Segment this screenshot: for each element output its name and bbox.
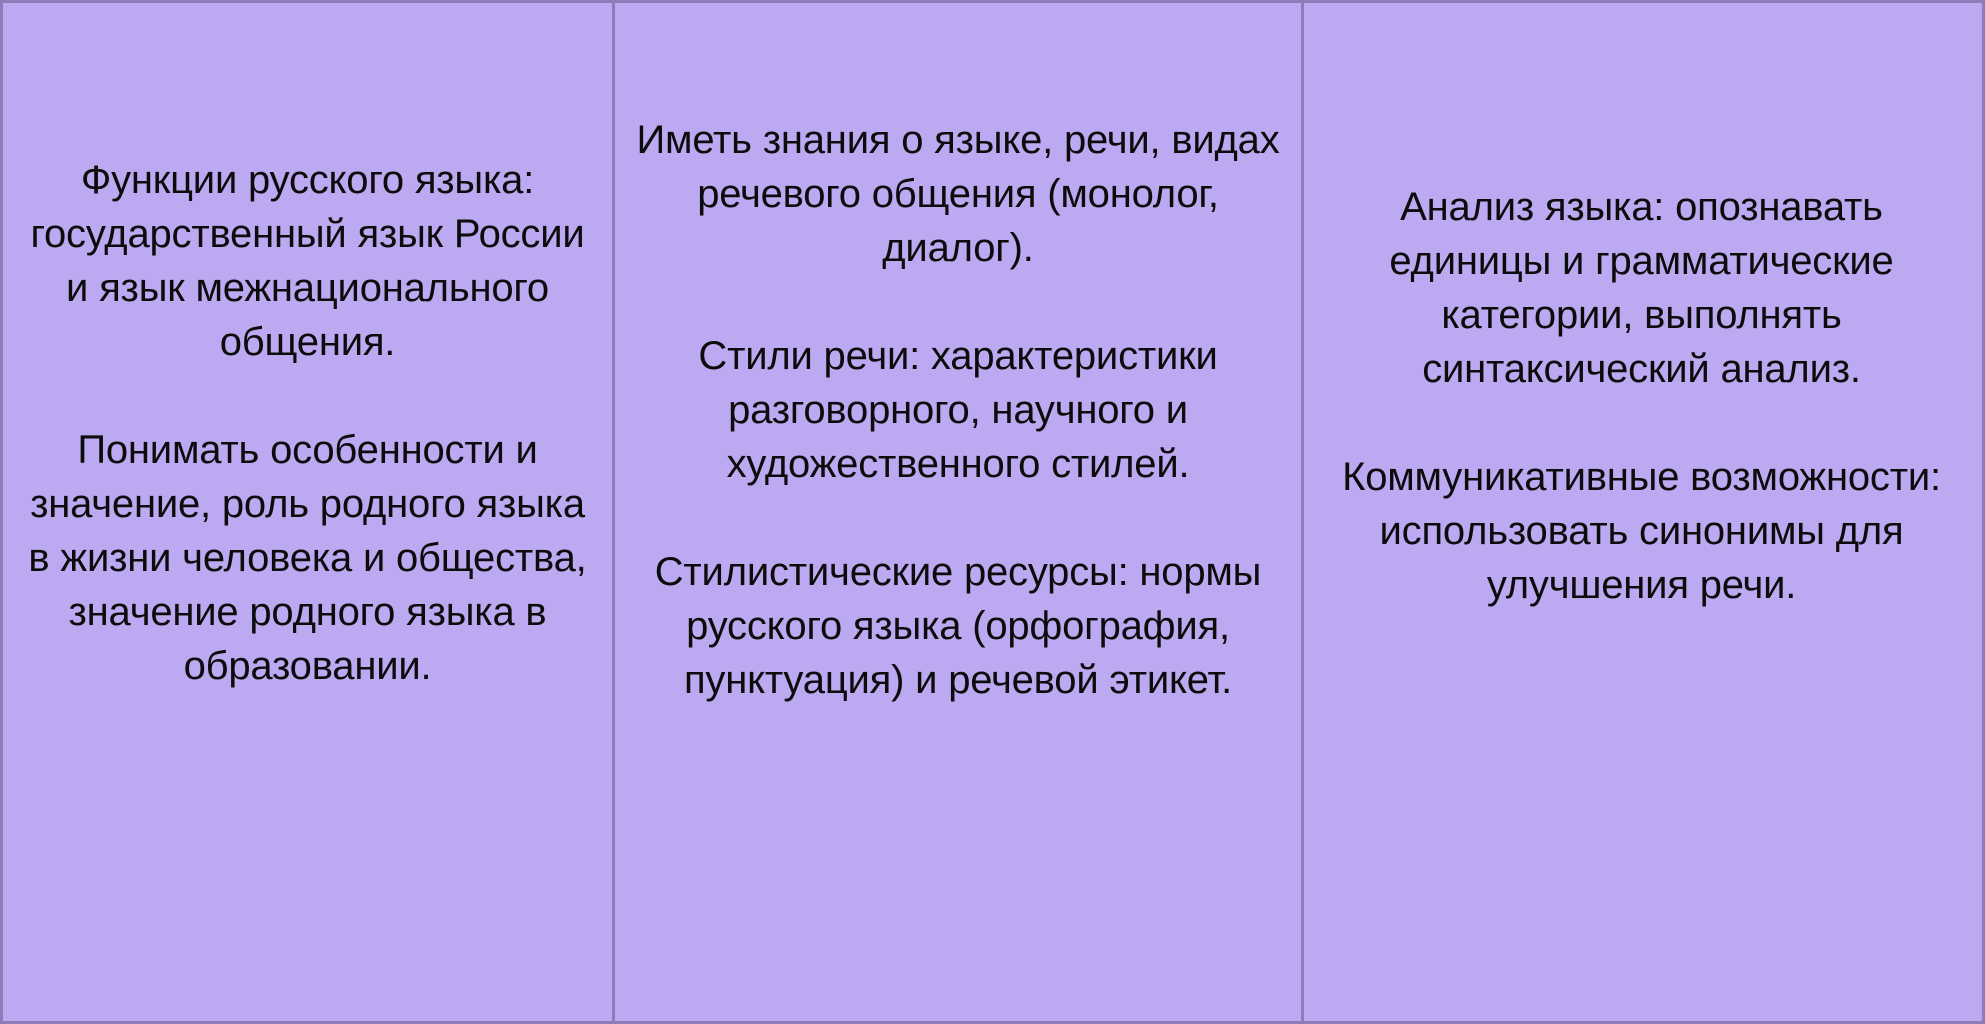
column-1-paragraph-2: Понимать особенности и значение, роль ро… xyxy=(15,423,600,693)
column-3-spacer-1 xyxy=(1316,396,1967,450)
slide-table: Функции русского языка: государственный … xyxy=(0,0,1985,1024)
column-3-content: Анализ языка: опознавать единицы и грамм… xyxy=(1304,3,1979,612)
table-column-1: Функции русского языка: государственный … xyxy=(3,3,615,1021)
column-2-spacer-2 xyxy=(627,491,1289,545)
column-1-content: Функции русского языка: государственный … xyxy=(3,3,612,693)
column-1-paragraph-1: Функции русского языка: государственный … xyxy=(15,153,600,369)
column-2-paragraph-3: Стилистические ресурсы: нормы русского я… xyxy=(627,545,1289,707)
column-2-content: Иметь знания о языке, речи, видах речево… xyxy=(615,3,1301,707)
column-2-paragraph-1: Иметь знания о языке, речи, видах речево… xyxy=(627,113,1289,275)
table-column-2: Иметь знания о языке, речи, видах речево… xyxy=(615,3,1304,1021)
column-3-paragraph-2: Коммуникативные возможности: использоват… xyxy=(1316,450,1967,612)
column-1-spacer-1 xyxy=(15,369,600,423)
table-column-3: Анализ языка: опознавать единицы и грамм… xyxy=(1304,3,1979,1021)
column-2-paragraph-2: Стили речи: характеристики разговорного,… xyxy=(627,329,1289,491)
column-3-paragraph-1: Анализ языка: опознавать единицы и грамм… xyxy=(1316,180,1967,396)
column-2-spacer-1 xyxy=(627,275,1289,329)
